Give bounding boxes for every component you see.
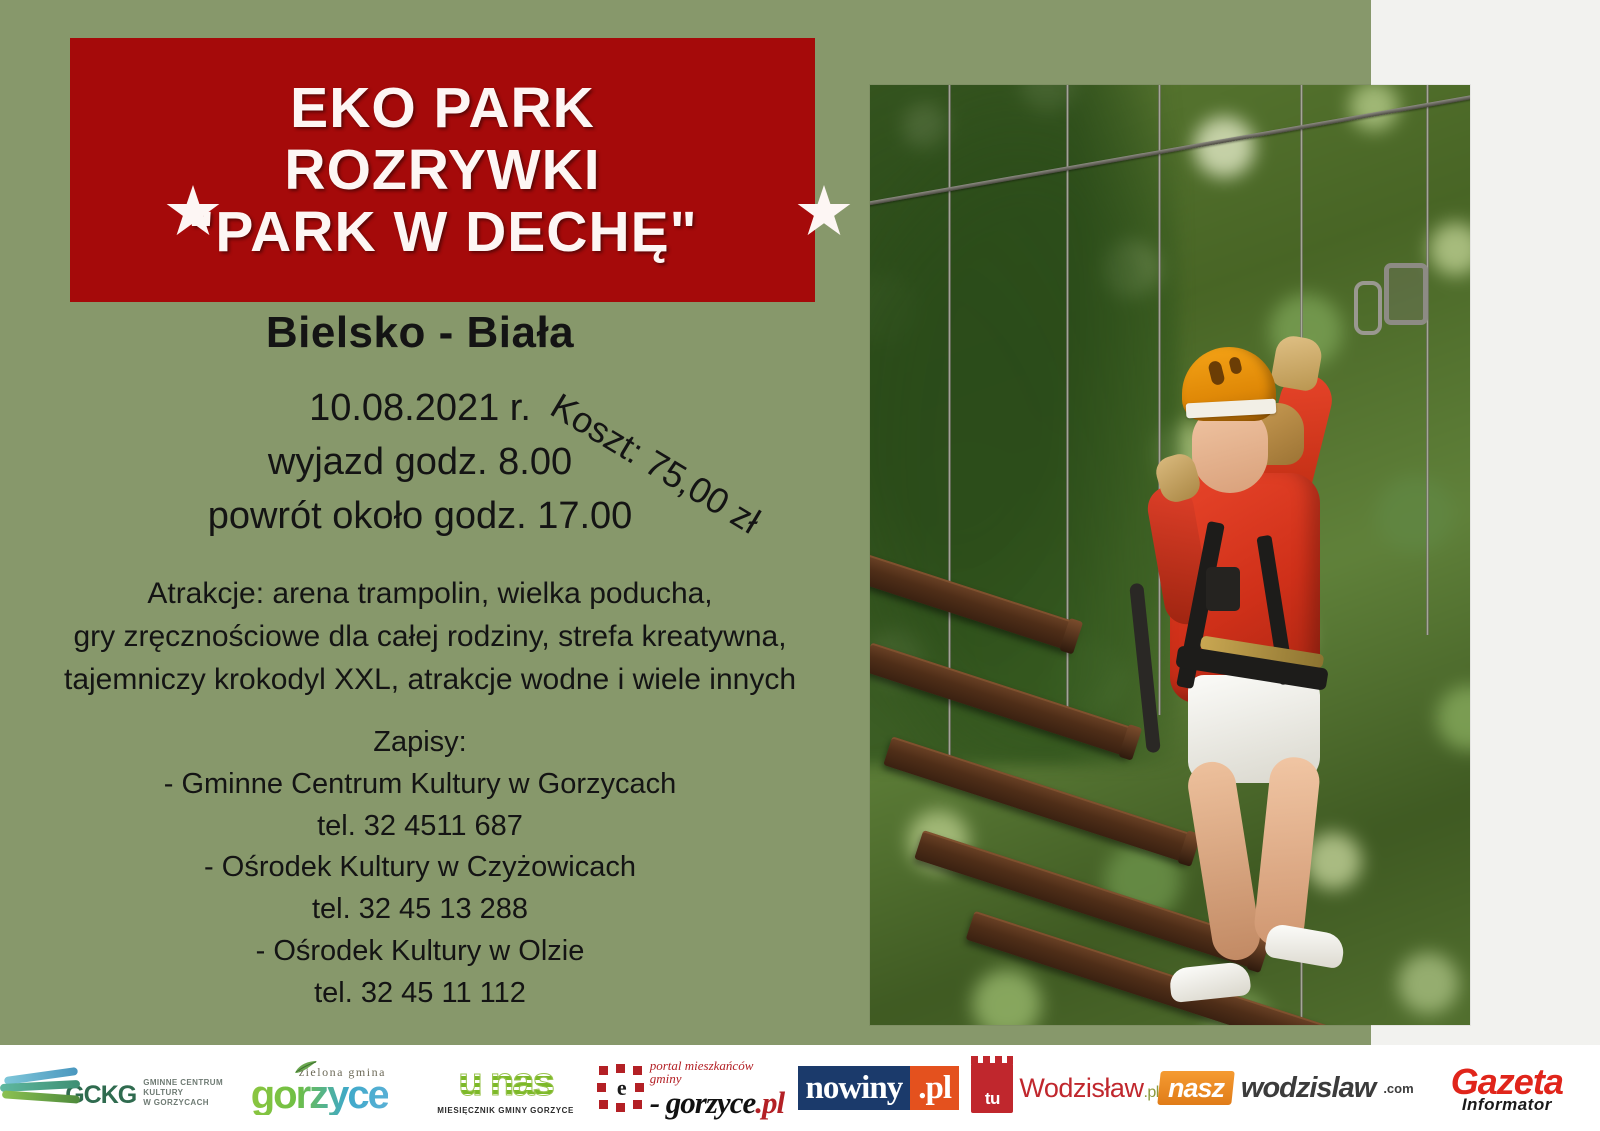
e-gorzyce-tld: .pl — [755, 1085, 784, 1120]
nowiny-tld: .pl — [910, 1066, 959, 1110]
nowiny-wordmark: nowiny — [798, 1066, 911, 1110]
signup-section: Zapisy: - Gminne Centrum Kultury w Gorzy… — [0, 722, 840, 1014]
signup-org-1: - Gminne Centrum Kultury w Gorzycach — [0, 764, 840, 806]
tu-label: tu — [985, 1090, 1000, 1113]
attractions-line-3: tajemniczy krokodyl XXL, atrakcje wodne … — [0, 658, 860, 701]
poster-title: EKO PARK ROZRYWKI "PARK W DECHĘ" — [187, 77, 697, 263]
signup-tel-2: tel. 32 45 13 288 — [0, 889, 840, 931]
gorzyce-tagline: zielona gmina — [299, 1065, 386, 1080]
ropes-course-photo — [870, 85, 1470, 1025]
signup-org-3: - Ośrodek Kultury w Olzie — [0, 931, 840, 973]
gckg-subtitle-2: W GORZYCACH — [143, 1098, 226, 1108]
signup-tel-3: tel. 32 45 11 112 — [0, 973, 840, 1015]
wodzislaw-wordmark: Wodzisław — [1019, 1073, 1143, 1103]
event-attractions: Atrakcje: arena trampolin, wielka poduch… — [0, 572, 860, 702]
attractions-line-1: Atrakcje: arena trampolin, wielka poduch… — [0, 572, 860, 615]
pulley-icon — [1384, 263, 1428, 325]
sponsor-logo-gorzyce: zielona gmina gorzyce — [226, 1045, 412, 1131]
e-gorzyce-dots-icon: e — [599, 1066, 642, 1110]
wodzislaw-com-tld: .com — [1383, 1081, 1413, 1096]
e-gorzyce-letter: e — [611, 1077, 633, 1099]
signup-org-2: - Ośrodek Kultury w Czyżowicach — [0, 847, 840, 889]
title-line-2: ROZRYWKI — [187, 139, 697, 201]
wodzislaw-tld: .pl — [1143, 1084, 1158, 1101]
title-line-1: EKO PARK — [187, 77, 697, 139]
signup-heading: Zapisy: — [0, 722, 840, 764]
u-nas-wordmark: u nas — [437, 1062, 574, 1102]
sponsor-logo-tu-wodzislaw: tu Wodzisław.pl — [971, 1045, 1158, 1131]
event-city: Bielsko - Biała — [0, 308, 840, 358]
wodzislaw-com-wordmark: wodzislaw — [1241, 1072, 1375, 1105]
nasz-badge: nasz — [1157, 1071, 1235, 1105]
title-banner: EKO PARK ROZRYWKI "PARK W DECHĘ" — [70, 38, 815, 302]
signup-tel-1: tel. 32 4511 687 — [0, 806, 840, 848]
sponsor-logo-u-nas: u nas MIESIĘCZNIK GMINY GORZYCE — [412, 1045, 598, 1131]
carabiner-icon — [1354, 281, 1382, 335]
gckg-subtitle-1: GMINNE CENTRUM KULTURY — [143, 1078, 226, 1098]
sponsor-logo-bar: GCKG GMINNE CENTRUM KULTURY W GORZYCACH … — [0, 1045, 1600, 1131]
poster-canvas: EKO PARK ROZRYWKI "PARK W DECHĘ" Bielsko… — [0, 0, 1600, 1131]
sponsor-logo-e-gorzyce: e portal mieszkańców gminy - gorzyce.pl — [599, 1045, 785, 1131]
sponsor-logo-gckg: GCKG GMINNE CENTRUM KULTURY W GORZYCACH — [0, 1045, 226, 1131]
e-gorzyce-wordmark: - gorzyce — [650, 1085, 755, 1120]
nasz-wordmark: nasz — [1168, 1074, 1224, 1102]
event-date: 10.08.2021 r. — [0, 382, 840, 436]
sponsor-logo-nowiny: nowiny .pl — [785, 1045, 971, 1131]
title-line-3: "PARK W DECHĘ" — [187, 201, 697, 263]
e-gorzyce-tagline: portal mieszkańców gminy — [650, 1059, 785, 1085]
castle-tower-icon: tu — [971, 1063, 1013, 1113]
gckg-ribbon-icon — [0, 1068, 58, 1108]
support-cable — [1158, 85, 1161, 715]
informator-wordmark: Informator — [1451, 1096, 1563, 1113]
attractions-line-2: gry zręcznościowe dla całej rodziny, str… — [0, 615, 860, 658]
sponsor-logo-nasz-wodzislaw: nasz wodzislaw .com — [1159, 1045, 1414, 1131]
harness-hardware — [1206, 567, 1240, 611]
u-nas-tagline: MIESIĘCZNIK GMINY GORZYCE — [437, 1106, 574, 1115]
support-cable — [1426, 85, 1429, 635]
sponsor-logo-gazeta-informator: Gazeta Informator — [1414, 1045, 1600, 1131]
